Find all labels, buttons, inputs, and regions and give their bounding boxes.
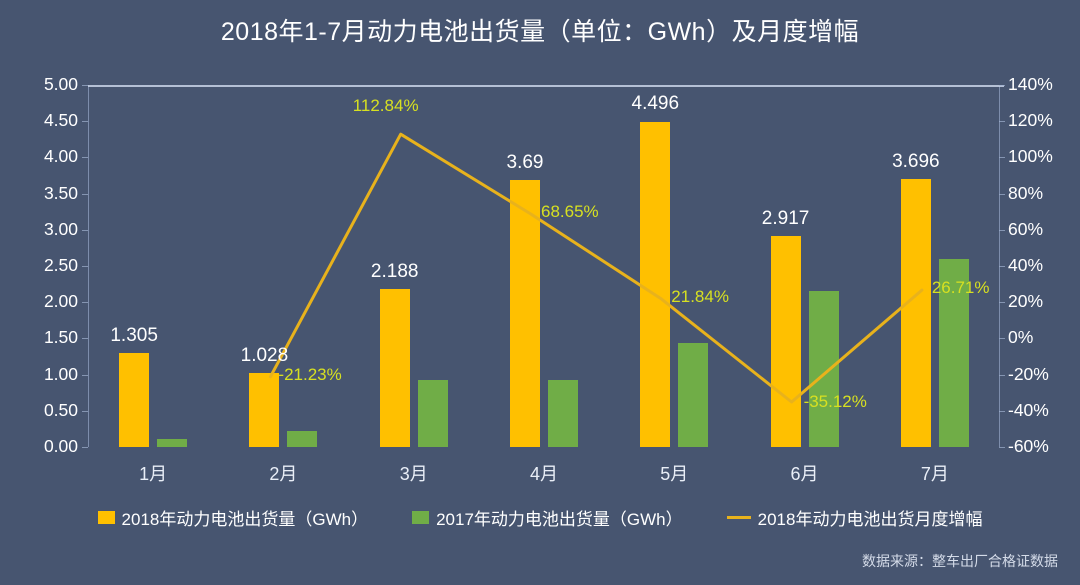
page-title: 2018年1-7月动力电池出货量（单位：GWh）及月度增幅 — [0, 12, 1080, 48]
legend-label: 2018年动力电池出货量（GWh） — [122, 505, 369, 530]
left-axis-tick-label: 1.50 — [0, 327, 78, 348]
left-axis-tick-label: 3.50 — [0, 183, 78, 204]
right-axis-tick-label: 60% — [1008, 219, 1078, 240]
legend-square-icon — [412, 511, 429, 524]
bar-value-label: 2.917 — [741, 208, 831, 230]
x-axis-tick-label: 7月 — [895, 460, 975, 486]
legend-line-icon — [727, 516, 751, 519]
left-axis-tick-label: 4.50 — [0, 110, 78, 131]
x-axis-tick-label: 1月 — [113, 460, 193, 486]
growth-pct-label: -21.23% — [278, 365, 341, 385]
legend-label: 2017年动力电池出货量（GWh） — [436, 505, 683, 530]
right-axis-tick-label: 20% — [1008, 291, 1078, 312]
growth-pct-label: -35.12% — [804, 392, 867, 412]
x-axis-tick-label: 4月 — [504, 460, 584, 486]
bar-value-label: 2.188 — [350, 261, 440, 283]
left-axis-tick-label: 3.00 — [0, 219, 78, 240]
right-axis-tick-label: -20% — [1008, 364, 1078, 385]
bar-value-label: 1.028 — [219, 345, 309, 367]
legend-label: 2018年动力电池出货月度增幅 — [758, 505, 983, 530]
legend-item-s2017[interactable]: 2017年动力电池出货量（GWh） — [412, 505, 683, 530]
left-axis-tick-label: 0.50 — [0, 400, 78, 421]
plot-area: 1.3051.0282.1883.694.4962.9173.696 -21.2… — [88, 85, 1000, 447]
right-axis-tick-label: -40% — [1008, 400, 1078, 421]
left-axis-tick — [82, 447, 88, 448]
source-note: 数据来源：整车出厂合格证数据 — [862, 551, 1058, 571]
left-axis-tick-label: 1.00 — [0, 364, 78, 385]
x-axis-tick-label: 2月 — [243, 460, 323, 486]
right-axis-tick-label: 140% — [1008, 74, 1078, 95]
legend-square-icon — [98, 511, 115, 524]
growth-pct-label: 26.71% — [932, 278, 990, 298]
legend-item-s2018[interactable]: 2018年动力电池出货量（GWh） — [98, 505, 369, 530]
legend-item-growth[interactable]: 2018年动力电池出货月度增幅 — [727, 505, 983, 530]
growth-pct-label: 21.84% — [671, 287, 729, 307]
growth-pct-label: 68.65% — [541, 202, 599, 222]
left-axis-tick-label: 0.00 — [0, 436, 78, 457]
bar-value-label: 4.496 — [610, 93, 700, 115]
right-axis-tick — [999, 447, 1005, 448]
left-axis-tick-label: 2.50 — [0, 255, 78, 276]
right-axis-tick-label: 0% — [1008, 327, 1078, 348]
x-axis-tick-label: 5月 — [634, 460, 714, 486]
right-axis-tick-label: 120% — [1008, 110, 1078, 131]
bar-value-label: 1.305 — [89, 325, 179, 347]
left-axis-tick-label: 5.00 — [0, 74, 78, 95]
right-axis-tick-label: 80% — [1008, 183, 1078, 204]
growth-pct-label: 112.84% — [353, 96, 419, 116]
left-axis-tick-label: 2.00 — [0, 291, 78, 312]
chart-legend: 2018年动力电池出货量（GWh）2017年动力电池出货量（GWh）2018年动… — [0, 505, 1080, 530]
right-axis-tick-label: -60% — [1008, 436, 1078, 457]
bar-value-label: 3.696 — [871, 151, 961, 173]
right-axis-tick-label: 100% — [1008, 146, 1078, 167]
right-axis-tick-label: 40% — [1008, 255, 1078, 276]
x-axis-tick-label: 6月 — [765, 460, 845, 486]
bar-value-label: 3.69 — [480, 152, 570, 174]
chart-root: 2018年1-7月动力电池出货量（单位：GWh）及月度增幅 0.000.501.… — [0, 0, 1080, 585]
left-axis-tick-label: 4.00 — [0, 146, 78, 167]
x-axis-tick-label: 3月 — [374, 460, 454, 486]
